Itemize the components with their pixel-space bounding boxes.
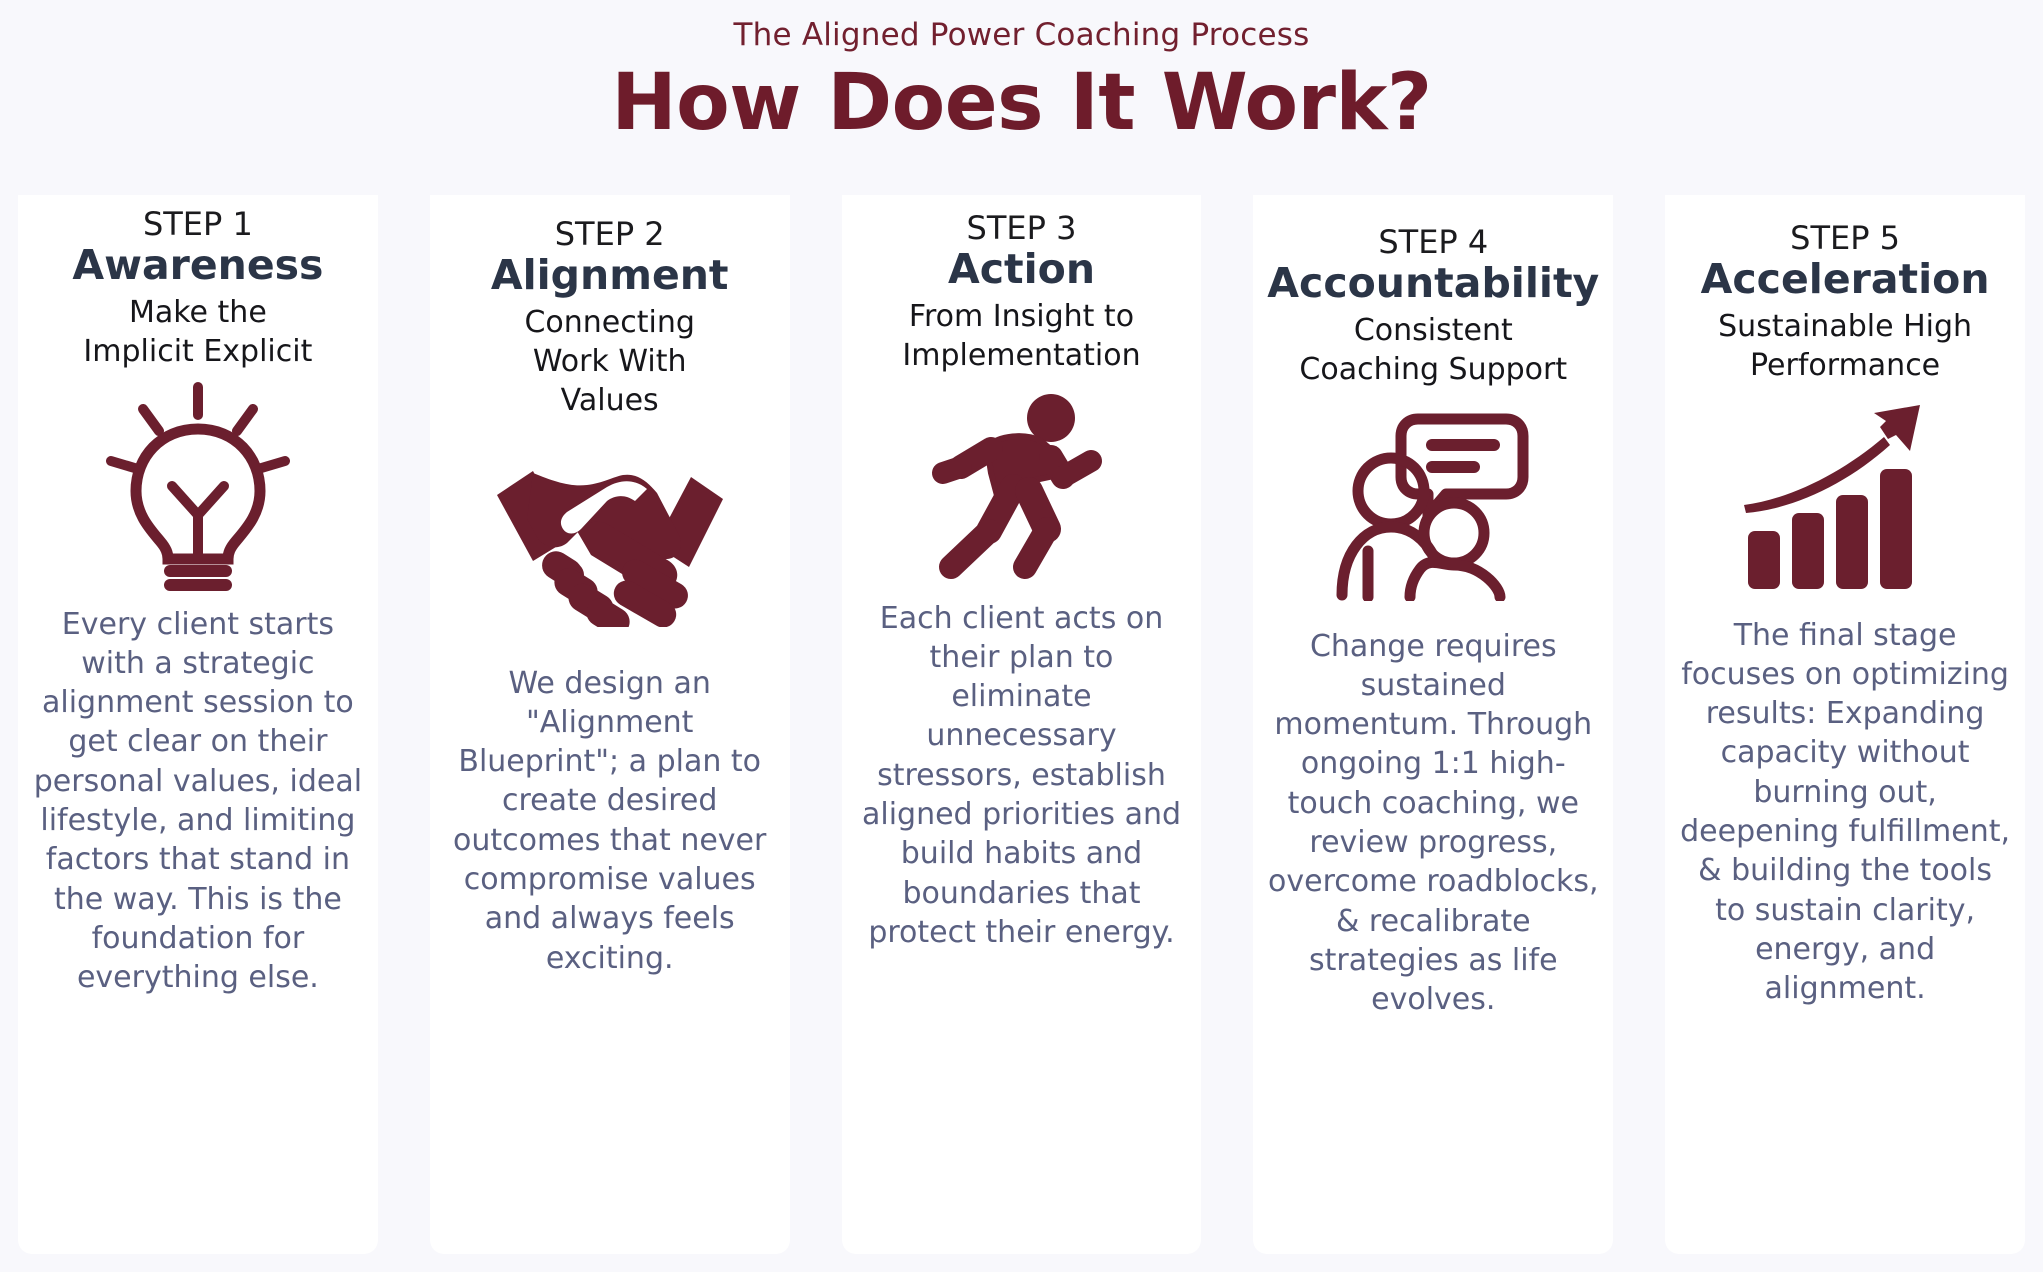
running-person-icon: [929, 391, 1114, 591]
step-title: Acceleration: [1701, 256, 1990, 303]
step-body: Each client acts on their plan to elimin…: [856, 599, 1188, 953]
step-title: Alignment: [491, 252, 729, 299]
infographic-header: The Aligned Power Coaching Process How D…: [0, 0, 2043, 147]
page-title: How Does It Work?: [0, 60, 2043, 147]
step-title: Awareness: [72, 242, 323, 289]
step-subtitle: From Insight to Implementation: [902, 297, 1140, 375]
handshake-icon: [495, 447, 725, 627]
step-card-alignment[interactable]: STEP 2 Alignment Connecting Work With Va…: [430, 195, 790, 1254]
step-label: STEP 2: [555, 217, 665, 253]
step-label: STEP 5: [1790, 221, 1900, 257]
growth-chart-icon: [1738, 399, 1953, 594]
step-icon-slot: [1267, 401, 1599, 601]
step-label: STEP 1: [143, 207, 253, 243]
step-card-action[interactable]: STEP 3 Action From Insight to Implementa…: [842, 195, 1202, 1254]
step-icon-slot: [32, 381, 364, 591]
lightbulb-icon: [98, 381, 298, 591]
step-icon-slot: [1679, 399, 2011, 594]
step-label: STEP 3: [967, 211, 1077, 247]
step-subtitle: Make the Implicit Explicit: [83, 293, 312, 371]
steps-rail: STEP 1 Awareness Make the Implicit Expli…: [18, 195, 2025, 1254]
step-body: Every client starts with a strategic ali…: [32, 605, 364, 998]
step-title: Accountability: [1267, 260, 1599, 307]
step-icon-slot: [444, 442, 776, 632]
step-body: The final stage focuses on optimizing re…: [1679, 616, 2011, 1009]
step-body: We design an "Alignment Blueprint"; a pl…: [444, 664, 776, 978]
step-card-awareness[interactable]: STEP 1 Awareness Make the Implicit Expli…: [18, 195, 378, 1254]
step-icon-slot: [856, 391, 1188, 591]
step-title: Action: [948, 246, 1095, 293]
step-card-acceleration[interactable]: STEP 5 Acceleration Sustainable High Per…: [1665, 195, 2025, 1254]
step-body: Change requires sustained momentum. Thro…: [1267, 627, 1599, 1020]
step-subtitle: Connecting Work With Values: [524, 303, 694, 420]
step-subtitle: Consistent Coaching Support: [1299, 311, 1567, 389]
people-speech-bubble-icon: [1328, 401, 1538, 601]
step-label: STEP 4: [1378, 225, 1488, 261]
step-card-accountability[interactable]: STEP 4 Accountability Consistent Coachin…: [1253, 195, 1613, 1254]
step-subtitle: Sustainable High Performance: [1718, 307, 1972, 385]
eyebrow-text: The Aligned Power Coaching Process: [0, 18, 2043, 54]
